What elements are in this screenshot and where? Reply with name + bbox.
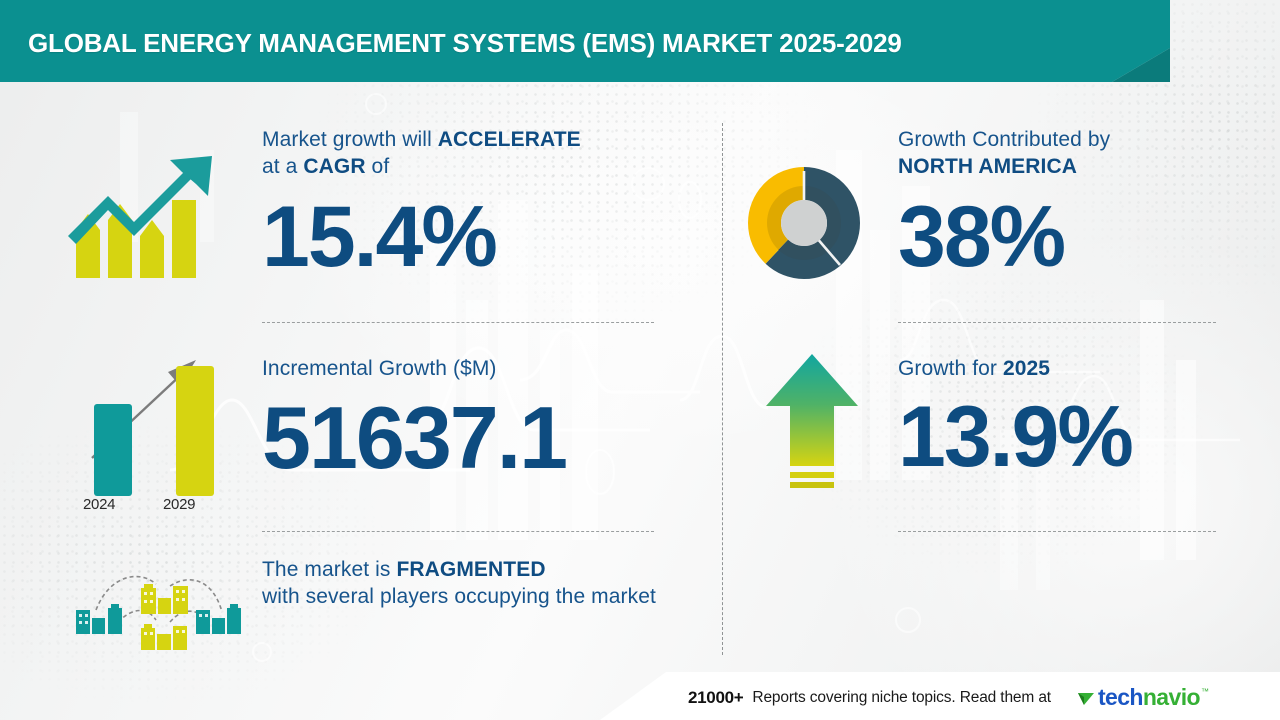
cagr-value: 15.4% — [262, 194, 662, 280]
cagr-caption-accelerate: ACCELERATE — [438, 128, 581, 151]
cagr-caption-cagr: CAGR — [303, 155, 365, 178]
donut-chart-icon — [744, 163, 864, 283]
cagr-caption-mid: at a — [262, 155, 303, 178]
fragmentation-caption-strong: FRAGMENTED — [396, 558, 545, 581]
region-contribution-caption: Growth Contributed by NORTH AMERICA — [898, 126, 1228, 180]
region-caption-strong: NORTH AMERICA — [898, 155, 1077, 178]
infographic-canvas: GLOBAL ENERGY MANAGEMENT SYSTEMS (EMS) M… — [0, 0, 1280, 720]
yearly-growth-caption: Growth for 2025 — [898, 355, 1228, 382]
technavio-logo[interactable]: technavio™ — [1076, 684, 1208, 711]
region-caption-pre: Growth Contributed by — [898, 128, 1110, 151]
fragmentation-caption: The market is FRAGMENTED with several pl… — [262, 556, 682, 610]
bar-comparison-icon — [70, 342, 240, 517]
divider-left-1 — [262, 322, 654, 323]
divider-left-2 — [262, 531, 654, 532]
fragmentation-caption-post: with several players occupying the marke… — [262, 585, 656, 608]
cagr-block: Market growth will ACCELERATE at a CAGR … — [262, 126, 662, 280]
bar-2024 — [94, 404, 132, 496]
incremental-growth-block: Incremental Growth ($M) 51637.1 — [262, 355, 662, 482]
fragmentation-block: The market is FRAGMENTED with several pl… — [262, 556, 682, 610]
cagr-caption-post: of — [366, 155, 390, 178]
cagr-caption-pre: Market growth will — [262, 128, 438, 151]
divider-right-1 — [898, 322, 1216, 323]
yearly-growth-caption-pre: Growth for — [898, 357, 1003, 380]
page-title: GLOBAL ENERGY MANAGEMENT SYSTEMS (EMS) M… — [28, 28, 902, 59]
technavio-mark-icon — [1076, 688, 1096, 708]
logo-trademark: ™ — [1201, 687, 1209, 696]
cagr-caption: Market growth will ACCELERATE at a CAGR … — [262, 126, 662, 180]
incremental-growth-value: 51637.1 — [262, 394, 662, 482]
region-contribution-block: Growth Contributed by NORTH AMERICA 38% — [898, 126, 1228, 280]
bar-2029 — [176, 366, 214, 496]
logo-text-navio: navio — [1143, 684, 1200, 711]
region-contribution-value: 38% — [898, 194, 1228, 280]
logo-text-tech: tech — [1098, 684, 1143, 711]
city-clusters-icon — [62, 556, 252, 652]
footer-tagline: Reports covering niche topics. Read them… — [752, 689, 1051, 707]
fragmentation-caption-pre: The market is — [262, 558, 396, 581]
divider-right-2 — [898, 531, 1216, 532]
footer-content: 21000+ Reports covering niche topics. Re… — [688, 684, 1208, 711]
growth-chart-icon — [64, 148, 224, 288]
footer-report-count: 21000+ — [688, 688, 743, 708]
yearly-growth-value: 13.9% — [898, 394, 1228, 480]
yearly-growth-caption-strong: 2025 — [1003, 357, 1050, 380]
up-arrow-icon — [762, 348, 862, 498]
incremental-growth-caption: Incremental Growth ($M) — [262, 355, 662, 382]
yearly-growth-block: Growth for 2025 13.9% — [898, 355, 1228, 480]
column-divider — [722, 123, 723, 655]
